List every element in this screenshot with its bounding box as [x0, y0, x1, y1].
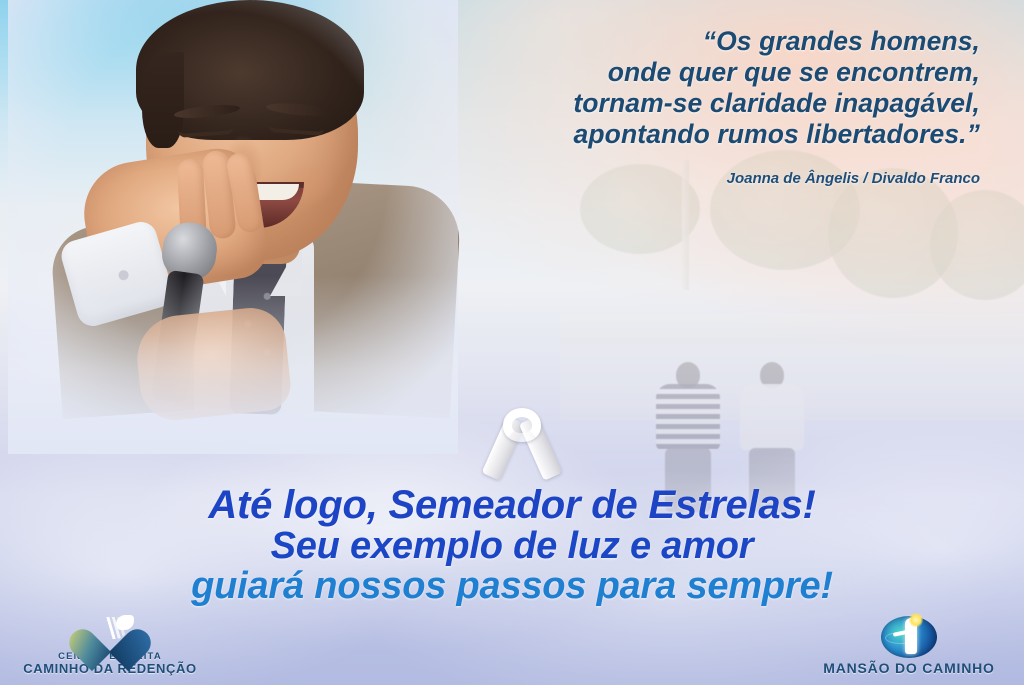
- logo-right-caption: MANSÃO DO CAMINHO: [804, 661, 1014, 677]
- headline-block: Até logo, Semeador de Estrelas! Seu exem…: [0, 486, 1024, 606]
- white-ribbon-icon: [486, 410, 558, 488]
- logo-left-caption: CENTRO ESPÍRITA CAMINHO DA REDENÇÃO: [10, 652, 210, 677]
- quote-line-4: apontando rumos libertadores.”: [420, 119, 980, 150]
- quote-block: “Os grandes homens, onde quer que se enc…: [420, 26, 980, 150]
- hand-holding-microphone: [133, 304, 293, 423]
- heart-hands-icon: [84, 608, 136, 648]
- headline-line-1: Até logo, Semeador de Estrelas!: [0, 486, 1024, 525]
- logo-left-line-2: CAMINHO DA REDENÇÃO: [10, 662, 210, 677]
- background-photo: [560, 150, 1024, 420]
- logo-mansao-do-caminho: MANSÃO DO CAMINHO: [804, 616, 1014, 677]
- globe-figure-icon: [881, 616, 937, 658]
- quote-line-3: tornam-se claridade inapagável,: [420, 88, 980, 119]
- ribbon-loop: [503, 408, 541, 442]
- quote-line-2: onde quer que se encontrem,: [420, 57, 980, 88]
- headline-line-3: guiará nossos passos para sempre!: [0, 568, 1024, 605]
- headline-line-2: Seu exemplo de luz e amor: [0, 528, 1024, 565]
- quote-line-1: “Os grandes homens,: [420, 26, 980, 57]
- quote-attribution: Joanna de Ângelis / Divaldo Franco: [420, 170, 980, 187]
- divaldo-portrait: [18, 0, 448, 414]
- hair: [136, 0, 364, 140]
- tribute-poster: “Os grandes homens, onde quer que se enc…: [0, 0, 1024, 685]
- logo-centro-espirita: CENTRO ESPÍRITA CAMINHO DA REDENÇÃO: [10, 608, 210, 677]
- logo-right-line-1: MANSÃO DO CAMINHO: [804, 661, 1014, 677]
